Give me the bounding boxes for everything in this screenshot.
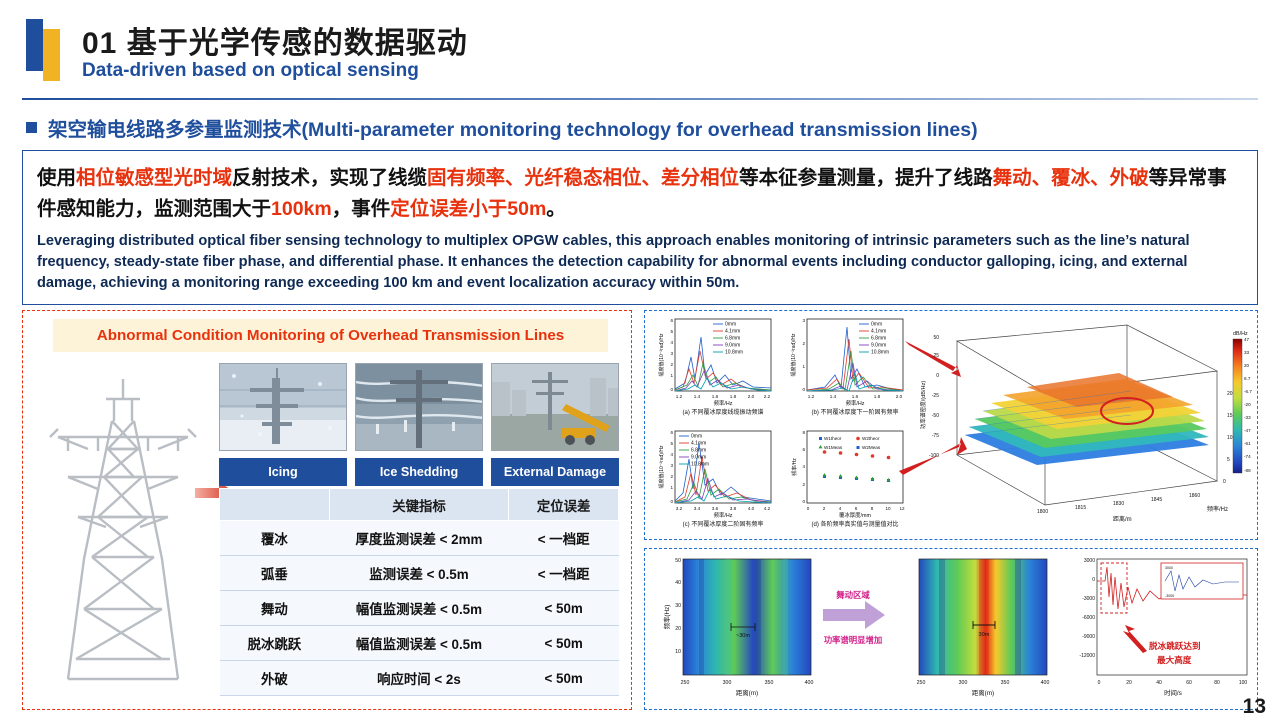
table-header-0 (220, 489, 330, 521)
svg-text:6.7: 6.7 (1244, 376, 1251, 381)
svg-text:频率/Hz: 频率/Hz (791, 458, 798, 476)
svg-text:功率谱密度/(dB/Hz): 功率谱密度/(dB/Hz) (919, 381, 927, 430)
section-title-text: 架空输电线路多参量监测技术(Multi-parameter monitoring… (48, 113, 978, 142)
right-bottom-figure-panel: 504030 2010 250300350400 距离(m) 频率(Hz) ~3… (644, 548, 1258, 710)
svg-text:3.2: 3.2 (676, 506, 683, 511)
svg-text:4.1mm: 4.1mm (871, 329, 886, 335)
svg-text:-3000: -3000 (1082, 596, 1095, 602)
svg-text:3.8: 3.8 (730, 506, 737, 511)
svg-text:频率/Hz: 频率/Hz (714, 399, 733, 407)
svg-text:2.2: 2.2 (764, 394, 771, 399)
svg-text:0mm: 0mm (691, 434, 702, 440)
svg-text:(d) 各阶频率真实值与测量值对比: (d) 各阶频率真实值与测量值对比 (811, 520, 898, 528)
svg-text:0mm: 0mm (871, 322, 882, 328)
svg-text:4.1mm: 4.1mm (725, 329, 740, 335)
svg-text:1: 1 (670, 485, 673, 490)
svg-text:2: 2 (802, 482, 805, 487)
svg-text:1815: 1815 (1075, 505, 1086, 511)
header-divider (22, 98, 1258, 100)
svg-text:10.8mm: 10.8mm (725, 350, 743, 356)
svg-text:80: 80 (1214, 680, 1220, 686)
highlight-text: 舞动、覆冰、外破 (993, 167, 1149, 189)
photo-caption-icing: Icing (219, 458, 347, 486)
table-cell-2: < 50m (509, 661, 619, 696)
svg-text:-100: -100 (929, 453, 939, 459)
svg-text:0: 0 (1092, 577, 1095, 583)
left-figure-panel: Abnormal Condition Monitoring of Overhea… (22, 310, 632, 710)
svg-text:功率谱明显增加: 功率谱明显增加 (824, 635, 883, 645)
svg-text:0: 0 (802, 387, 805, 392)
svg-text:幅度值(10⁻²rad)/Hz: 幅度值(10⁻²rad)/Hz (658, 333, 665, 376)
svg-text:4.1mm: 4.1mm (691, 441, 706, 447)
svg-text:距离(m): 距离(m) (972, 688, 994, 697)
svg-text:50: 50 (933, 335, 939, 341)
svg-text:1.6: 1.6 (852, 394, 859, 399)
svg-text:25: 25 (933, 353, 939, 359)
svg-text:1: 1 (670, 373, 673, 378)
normal-text: 等本征参量测量，提升了线路 (739, 167, 993, 189)
svg-text:-3000: -3000 (1165, 594, 1174, 598)
svg-text:10.8mm: 10.8mm (691, 462, 709, 468)
normal-text: ，事件 (332, 198, 391, 220)
svg-text:20: 20 (1244, 363, 1250, 368)
svg-text:频率/Hz: 频率/Hz (846, 399, 865, 407)
svg-text:~30m: ~30m (736, 633, 750, 639)
svg-text:30: 30 (675, 603, 681, 609)
svg-text:0: 0 (807, 506, 810, 511)
section-heading: 架空输电线路多参量监测技术(Multi-parameter monitoring… (26, 113, 978, 142)
svg-text:9.0mm: 9.0mm (871, 343, 886, 349)
svg-text:3000: 3000 (1165, 566, 1173, 570)
table-cell-1: 幅值监测误差 < 0.5m (329, 591, 509, 626)
normal-text: 使用 (37, 167, 76, 189)
header-accent-yellow (43, 29, 60, 81)
left-panel-title-box: Abnormal Condition Monitoring of Overhea… (53, 319, 608, 352)
svg-text:10: 10 (1227, 435, 1233, 441)
table-cell-1: 厚度监测误差 < 2mm (329, 521, 509, 556)
svg-text:3: 3 (670, 351, 673, 356)
svg-text:250: 250 (917, 680, 926, 686)
table-cell-2: < 一档距 (509, 556, 619, 591)
svg-text:0: 0 (670, 387, 673, 392)
svg-text:6: 6 (802, 447, 805, 452)
square-bullet-icon (26, 122, 37, 133)
svg-text:6: 6 (670, 318, 673, 323)
svg-text:2: 2 (670, 362, 673, 367)
left-panel-title: Abnormal Condition Monitoring of Overhea… (97, 327, 564, 344)
svg-text:3.6: 3.6 (712, 506, 719, 511)
table-cell-0: 舞动 (220, 591, 330, 626)
svg-text:1830: 1830 (1113, 501, 1124, 507)
svg-text:1.4: 1.4 (694, 394, 701, 399)
summary-chinese: 使用相位敏感型光时域反射技术，实现了线缆固有频率、光纤稳态相位、差分相位等本征参… (37, 163, 1243, 225)
svg-text:3000: 3000 (1084, 558, 1095, 564)
svg-text:-47: -47 (1244, 428, 1251, 433)
table-cell-0: 外破 (220, 661, 330, 696)
svg-text:350: 350 (1001, 680, 1010, 686)
summary-textbox: 使用相位敏感型光时域反射技术，实现了线缆固有频率、光纤稳态相位、差分相位等本征参… (22, 150, 1258, 305)
svg-text:350: 350 (765, 680, 774, 686)
photo-ice-shedding (355, 363, 483, 451)
header-accent-blue (26, 19, 43, 71)
svg-text:50: 50 (675, 558, 681, 564)
svg-text:1: 1 (802, 364, 805, 369)
transmission-tower-illustration (28, 359, 214, 699)
table-header-row: 关键指标 定位误差 (220, 489, 619, 521)
svg-text:-20: -20 (1244, 402, 1251, 407)
svg-text:4.2: 4.2 (764, 506, 771, 511)
svg-text:9.0mm: 9.0mm (725, 343, 740, 349)
svg-text:频率(Hz): 频率(Hz) (662, 605, 671, 630)
svg-text:300: 300 (959, 680, 968, 686)
page-title: 01 基于光学传感的数据驱动 (82, 18, 468, 62)
photo-external-damage (491, 363, 619, 451)
svg-text:2: 2 (802, 341, 805, 346)
svg-text:幅度值(10⁻²rad)/Hz: 幅度值(10⁻²rad)/Hz (658, 445, 665, 488)
svg-text:-9000: -9000 (1082, 634, 1095, 640)
table-cell-2: < 50m (509, 626, 619, 661)
svg-text:12: 12 (899, 506, 905, 511)
svg-text:频率/Hz: 频率/Hz (1207, 505, 1228, 513)
svg-text:4: 4 (670, 452, 673, 457)
highlight-text: 100km (271, 198, 332, 220)
svg-text:时间/s: 时间/s (1164, 688, 1182, 697)
svg-text:(c) 不同覆冰厚度二阶固有频率: (c) 不同覆冰厚度二阶固有频率 (683, 520, 764, 528)
svg-text:6: 6 (670, 430, 673, 435)
svg-text:(b) 不同覆冰厚度下一阶固有频率: (b) 不同覆冰厚度下一阶固有频率 (811, 408, 898, 416)
table-cell-0: 弧垂 (220, 556, 330, 591)
svg-text:-50: -50 (932, 413, 939, 419)
svg-text:4: 4 (802, 464, 805, 469)
svg-text:2: 2 (670, 474, 673, 479)
svg-text:1800: 1800 (1037, 509, 1048, 515)
svg-text:距离/m: 距离/m (1113, 515, 1132, 523)
svg-text:400: 400 (805, 680, 814, 686)
svg-text:1.4: 1.4 (830, 394, 837, 399)
table-row: 覆冰厚度监测误差 < 2mm< 一档距 (220, 521, 619, 556)
table-cell-0: 脱冰跳跃 (220, 626, 330, 661)
svg-text:400: 400 (1041, 680, 1050, 686)
svg-text:8: 8 (871, 506, 874, 511)
svg-text:100: 100 (1239, 680, 1248, 686)
svg-text:40: 40 (1156, 680, 1162, 686)
svg-text:300: 300 (723, 680, 732, 686)
page-number: 13 (1243, 695, 1266, 719)
photo-caption-external-damage: External Damage (491, 458, 619, 486)
table-cell-1: 幅值监测误差 < 0.5m (329, 626, 509, 661)
svg-text:5: 5 (1227, 457, 1230, 463)
svg-text:频率/Hz: 频率/Hz (714, 511, 733, 519)
photo-caption-ice-shedding: Ice Shedding (355, 458, 483, 486)
svg-text:W1Meas: W1Meas (824, 445, 843, 450)
table-header-2: 定位误差 (509, 489, 619, 521)
svg-text:9.0mm: 9.0mm (691, 455, 706, 461)
svg-text:4.0: 4.0 (748, 506, 755, 511)
svg-text:8: 8 (802, 430, 805, 435)
svg-text:覆冰厚度/mm: 覆冰厚度/mm (839, 511, 872, 519)
highlight-text: 定位误差小于50m (390, 198, 546, 220)
svg-text:0: 0 (1098, 680, 1101, 686)
svg-text:5: 5 (670, 441, 673, 446)
svg-text:距离(m): 距离(m) (736, 688, 758, 697)
svg-text:脱冰跳跃达到: 脱冰跳跃达到 (1149, 640, 1201, 651)
svg-text:0: 0 (1223, 479, 1226, 485)
frequency-spectrum-figures: 654 3210 1.21.41.6 1.82.02.2 频率/Hz 幅度值(1… (645, 311, 1255, 537)
slide-header: 01 基于光学传感的数据驱动 Data-driven based on opti… (0, 0, 1280, 96)
table-cell-2: < 50m (509, 591, 619, 626)
photo-icing (219, 363, 347, 451)
svg-text:4: 4 (670, 340, 673, 345)
svg-text:10: 10 (885, 506, 891, 511)
highlight-text: 固有频率、光纤稳态相位、差分相位 (427, 167, 739, 189)
svg-text:1860: 1860 (1189, 493, 1200, 499)
svg-text:10: 10 (675, 649, 681, 655)
svg-text:-33: -33 (1244, 415, 1251, 420)
table-row: 弧垂监测误差 < 0.5m< 一档距 (220, 556, 619, 591)
metrics-table: 关键指标 定位误差 覆冰厚度监测误差 < 2mm< 一档距弧垂监测误差 < 0.… (219, 488, 619, 696)
table-cell-1: 监测误差 < 0.5m (329, 556, 509, 591)
svg-text:-12000: -12000 (1079, 653, 1095, 659)
svg-text:1845: 1845 (1151, 497, 1162, 503)
svg-text:1.8: 1.8 (874, 394, 881, 399)
table-row: 外破响应时间 < 2s< 50m (220, 661, 619, 696)
svg-text:-6.7: -6.7 (1244, 389, 1252, 394)
svg-text:3.4: 3.4 (694, 506, 701, 511)
svg-text:-88: -88 (1244, 468, 1251, 473)
svg-text:6.8mm: 6.8mm (725, 336, 740, 342)
table-row: 舞动幅值监测误差 < 0.5m< 50m (220, 591, 619, 626)
svg-text:40: 40 (675, 580, 681, 586)
svg-text:-74: -74 (1244, 454, 1251, 459)
svg-text:-61: -61 (1244, 441, 1251, 446)
svg-text:0: 0 (936, 373, 939, 379)
svg-text:15: 15 (1227, 413, 1233, 419)
svg-text:W2Meas: W2Meas (862, 445, 881, 450)
svg-text:1.2: 1.2 (676, 394, 683, 399)
table-header-1: 关键指标 (329, 489, 509, 521)
svg-text:2: 2 (823, 506, 826, 511)
svg-text:6: 6 (855, 506, 858, 511)
svg-text:0: 0 (670, 499, 673, 504)
normal-text: 反射技术，实现了线缆 (232, 167, 427, 189)
table-cell-2: < 一档距 (509, 521, 619, 556)
svg-text:60: 60 (1186, 680, 1192, 686)
galloping-waterfall-figures: 504030 2010 250300350400 距离(m) 频率(Hz) ~3… (645, 549, 1255, 707)
svg-text:W1theor: W1theor (824, 436, 842, 441)
svg-text:1.8: 1.8 (730, 394, 737, 399)
svg-text:-6000: -6000 (1082, 615, 1095, 621)
svg-text:1.6: 1.6 (712, 394, 719, 399)
svg-text:250: 250 (681, 680, 690, 686)
svg-text:47: 47 (1244, 337, 1250, 342)
svg-text:30m: 30m (979, 632, 990, 638)
table-cell-1: 响应时间 < 2s (329, 661, 509, 696)
summary-english: Leveraging distributed optical fiber sen… (37, 231, 1243, 294)
svg-text:-25: -25 (932, 393, 939, 399)
page-subtitle: Data-driven based on optical sensing (82, 60, 419, 82)
svg-text:10.8mm: 10.8mm (871, 350, 889, 356)
svg-text:6.8mm: 6.8mm (871, 336, 886, 342)
svg-text:舞动区域: 舞动区域 (835, 590, 870, 600)
svg-text:20: 20 (675, 626, 681, 632)
svg-text:2.0: 2.0 (748, 394, 755, 399)
table-body: 覆冰厚度监测误差 < 2mm< 一档距弧垂监测误差 < 0.5m< 一档距舞动幅… (220, 521, 619, 696)
svg-text:W2theor: W2theor (862, 436, 880, 441)
svg-text:20: 20 (1126, 680, 1132, 686)
svg-text:3: 3 (802, 318, 805, 323)
svg-text:5: 5 (670, 329, 673, 334)
svg-text:0: 0 (802, 499, 805, 504)
table-row: 脱冰跳跃幅值监测误差 < 0.5m< 50m (220, 626, 619, 661)
normal-text: 。 (546, 198, 566, 220)
svg-text:2.0: 2.0 (896, 394, 903, 399)
table-cell-0: 覆冰 (220, 521, 330, 556)
svg-text:33: 33 (1244, 350, 1250, 355)
right-top-figure-panel: 654 3210 1.21.41.6 1.82.02.2 频率/Hz 幅度值(1… (644, 310, 1258, 540)
svg-text:幅度值(10⁻²rad)/Hz: 幅度值(10⁻²rad)/Hz (790, 333, 797, 376)
svg-text:最大高度: 最大高度 (1157, 654, 1192, 665)
highlight-text: 相位敏感型光时域 (76, 167, 232, 189)
svg-text:4: 4 (839, 506, 842, 511)
svg-text:3: 3 (670, 463, 673, 468)
svg-text:(a) 不同覆冰厚度线缆振动频谱: (a) 不同覆冰厚度线缆振动频谱 (682, 408, 763, 416)
svg-text:6.8mm: 6.8mm (691, 448, 706, 454)
svg-text:0mm: 0mm (725, 322, 736, 328)
svg-text:20: 20 (1227, 391, 1233, 397)
svg-text:1.2: 1.2 (808, 394, 815, 399)
svg-text:-75: -75 (932, 433, 939, 439)
